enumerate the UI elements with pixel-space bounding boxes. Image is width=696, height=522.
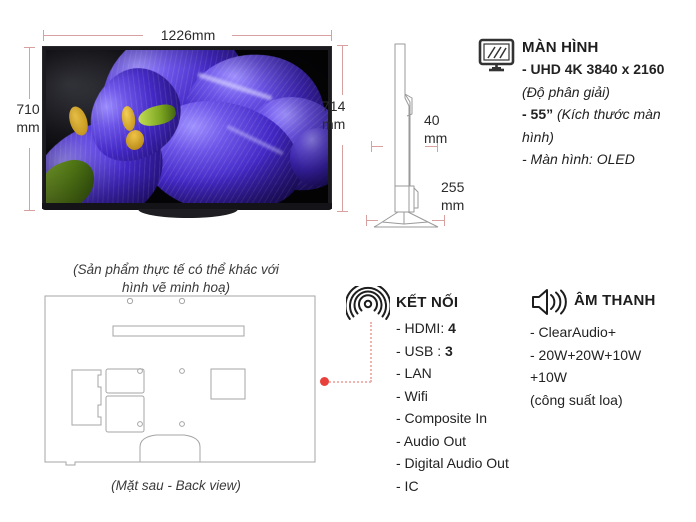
depth-dim-line	[371, 146, 383, 147]
spec-text-usb: - USB :	[396, 343, 445, 359]
height-left-dim-line-top	[29, 47, 30, 99]
spec-text-composite: - Composite In	[396, 410, 487, 426]
spec-text-panel: - Màn hình: OLED	[522, 151, 635, 167]
spec-line-resolution-note: (Độ phân giải)	[522, 81, 690, 104]
spec-line-clearaudio: - ClearAudio+	[530, 321, 692, 344]
spec-line-power-note: (công suất loa)	[530, 389, 692, 412]
spec-text-power-cont: +10W	[530, 369, 567, 385]
spec-line-ic: - IC	[396, 475, 526, 498]
height-right-tick-top	[337, 45, 348, 46]
width-dimension-label: 1226mm	[143, 27, 233, 44]
height-right-tick-bottom	[337, 211, 348, 212]
stand-tick-left	[366, 215, 367, 226]
spec-line-power-cont: +10W	[530, 366, 692, 389]
spec-line-size: - 55” (Kích thước màn	[522, 103, 690, 126]
height-right-dim-line-top	[342, 45, 343, 95]
spec-text-lan: - LAN	[396, 365, 432, 381]
spec-text-power-note: (công suất loa)	[530, 392, 623, 408]
spec-line-composite: - Composite In	[396, 407, 526, 430]
width-dim-line-right	[232, 35, 331, 36]
width-dim-tick-right	[331, 30, 332, 41]
spec-value-usb: 3	[445, 343, 453, 359]
speaker-icon	[530, 288, 570, 321]
spec-value-hdmi: 4	[448, 320, 456, 336]
height-left-unit: mm	[2, 119, 54, 136]
height-left-tick-bottom	[24, 210, 35, 211]
spec-text-wifi: - Wifi	[396, 388, 428, 404]
vignette	[46, 50, 328, 203]
spec-line-resolution: - UHD 4K 3840 x 2160	[522, 56, 690, 81]
spec-text-size-bold: - 55”	[522, 106, 553, 122]
stand-width-unit: mm	[441, 197, 489, 214]
spec-text-ic: - IC	[396, 478, 419, 494]
spec-title-display: MÀN HÌNH	[522, 36, 690, 56]
depth-tick-left	[371, 141, 372, 152]
depth-unit: mm	[424, 130, 464, 147]
width-dim-line-left	[43, 35, 143, 36]
height-right-unit: mm	[322, 116, 366, 133]
height-right-dim-line-bottom	[342, 145, 343, 211]
spec-line-panel: - Màn hình: OLED	[522, 148, 690, 171]
tv-back-view	[44, 295, 316, 480]
stand-dim-line-right	[432, 220, 444, 221]
depth-value: 40	[424, 112, 464, 129]
connector-port-dot	[320, 377, 329, 386]
spec-block-audio: ÂM THANH - ClearAudio+ - 20W+20W+10W +10…	[530, 288, 692, 411]
back-view-caption: (Mặt sau - Back view)	[36, 477, 316, 495]
height-left-value: 710	[2, 101, 54, 118]
stand-dim-line-left	[366, 220, 378, 221]
spec-block-display: MÀN HÌNH - UHD 4K 3840 x 2160 (Độ phân g…	[478, 36, 690, 171]
wifi-antenna-icon	[346, 286, 390, 331]
back-view-note-line1: (Sản phẩm thực tế có thể khác với	[36, 261, 316, 279]
stand-width-value: 255	[441, 179, 489, 196]
spec-title-connectivity: KẾT NỐI	[396, 286, 526, 311]
spec-sheet-page: 1226mm 710 mm 714 mm	[0, 0, 696, 522]
tv-front-view	[42, 46, 332, 209]
width-dim-tick-left	[43, 30, 44, 41]
spec-text-audio-out: - Audio Out	[396, 433, 466, 449]
spec-line-power: - 20W+20W+10W	[530, 344, 692, 367]
spec-line-usb: - USB : 3	[396, 340, 526, 363]
spec-block-connectivity: KẾT NỐI - HDMI: 4 - USB : 3 - LAN - Wifi…	[346, 286, 526, 497]
spec-line-hdmi: - HDMI: 4	[396, 317, 526, 340]
spec-text-power: - 20W+20W+10W	[530, 347, 641, 363]
spec-line-digital-audio-out: - Digital Audio Out	[396, 452, 526, 475]
height-right-value: 714	[322, 98, 366, 115]
spec-text-size-rest: (Kích thước màn	[553, 106, 661, 122]
spec-text-digital-audio-out: - Digital Audio Out	[396, 455, 509, 471]
height-left-dim-line-bottom	[29, 148, 30, 210]
monitor-icon	[478, 38, 518, 79]
tv-screen-artwork	[46, 50, 328, 203]
spec-text-size-cont: hình)	[522, 129, 554, 145]
spec-line-wifi: - Wifi	[396, 385, 526, 408]
spec-text-clearaudio: - ClearAudio+	[530, 324, 616, 340]
spec-line-lan: - LAN	[396, 362, 526, 385]
spec-title-audio: ÂM THANH	[574, 288, 692, 309]
tv-stand-foot	[138, 209, 238, 218]
spec-line-audio-out: - Audio Out	[396, 430, 526, 453]
spec-line-size-cont: hình)	[522, 126, 690, 149]
stand-tick-right	[444, 215, 445, 226]
height-left-tick-top	[24, 47, 35, 48]
spec-text-hdmi: - HDMI:	[396, 320, 448, 336]
spec-text-resolution-note: (Độ phân giải)	[522, 84, 610, 100]
spec-text-resolution: - UHD 4K 3840 x 2160	[522, 61, 664, 77]
